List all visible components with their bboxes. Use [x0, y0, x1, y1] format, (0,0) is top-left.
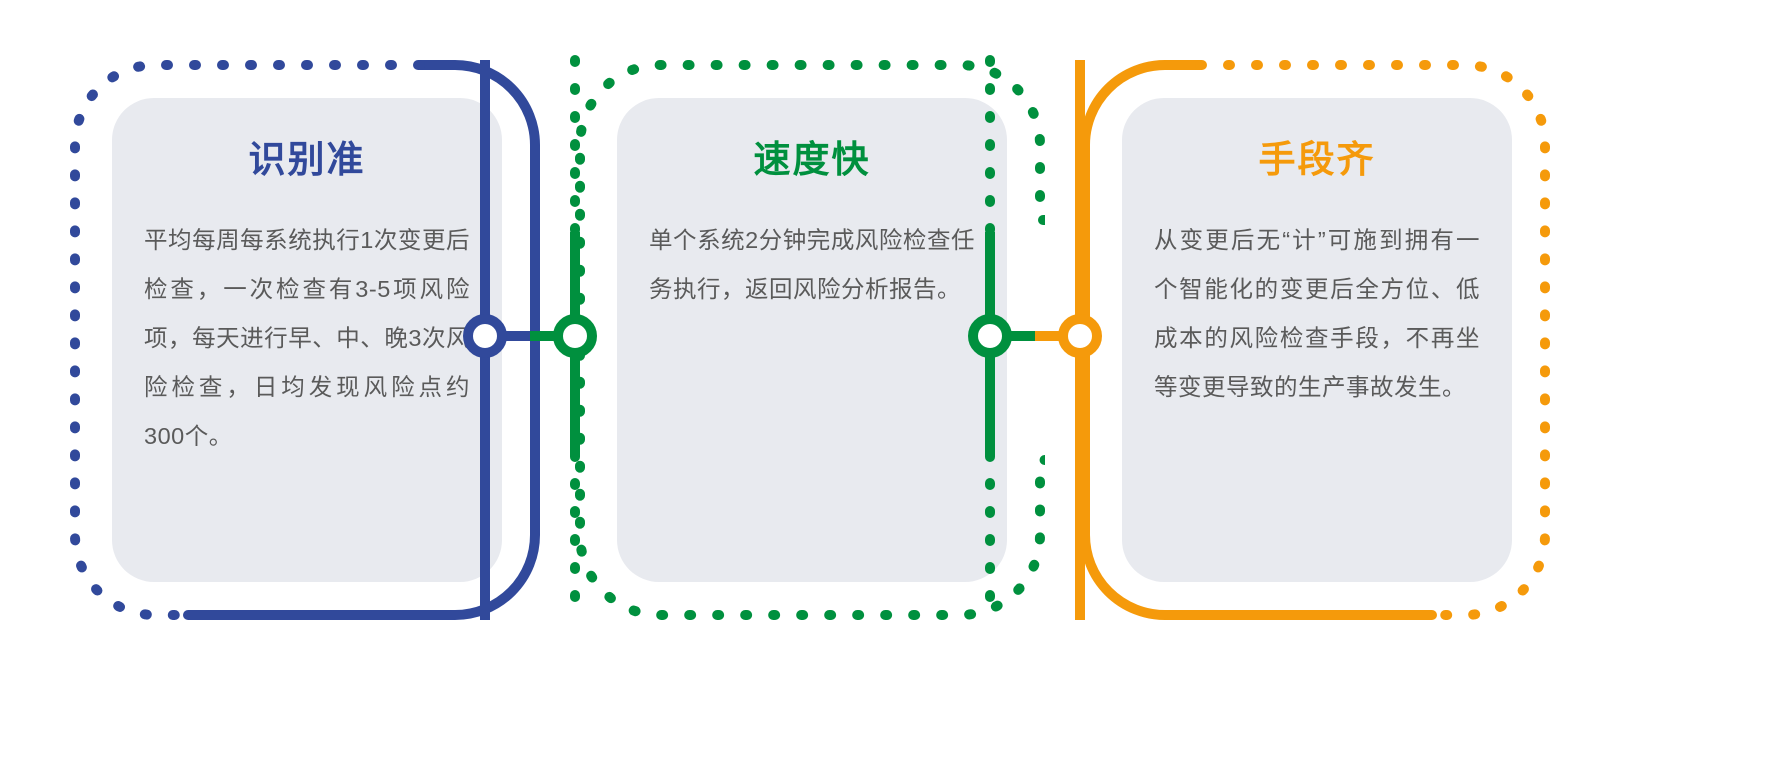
benefit-card-group-accuracy: 识别准 平均每周每系统执行1次变更后检查，一次检查有3‑5项风险项，每天进行早、… [70, 60, 540, 620]
benefit-card-speed: 速度快 单个系统2分钟完成风险检查任务执行，返回风险分析报告。 [617, 98, 1007, 582]
card-title-coverage: 手段齐 [1148, 138, 1486, 182]
benefit-card-group-coverage: 手段齐 从变更后无“计”可施到拥有一个智能化的变更后全方位、低成本的风险检查手段… [1080, 60, 1550, 620]
card-body-coverage: 从变更后无“计”可施到拥有一个智能化的变更后全方位、低成本的风险检查手段，不再坐… [1148, 216, 1486, 412]
card-body-accuracy: 平均每周每系统执行1次变更后检查，一次检查有3‑5项风险项，每天进行早、中、晚3… [138, 216, 476, 461]
benefit-card-accuracy: 识别准 平均每周每系统执行1次变更后检查，一次检查有3‑5项风险项，每天进行早、… [112, 98, 502, 582]
card-body-speed: 单个系统2分钟完成风险检查任务执行，返回风险分析报告。 [643, 216, 981, 314]
card-title-accuracy: 识别准 [138, 138, 476, 182]
benefit-card-group-speed: 速度快 单个系统2分钟完成风险检查任务执行，返回风险分析报告。 [575, 60, 1045, 620]
card-title-speed: 速度快 [643, 138, 981, 182]
benefit-card-coverage: 手段齐 从变更后无“计”可施到拥有一个智能化的变更后全方位、低成本的风险检查手段… [1122, 98, 1512, 582]
diagram-canvas: 识别准 平均每周每系统执行1次变更后检查，一次检查有3‑5项风险项，每天进行早、… [0, 0, 1768, 776]
